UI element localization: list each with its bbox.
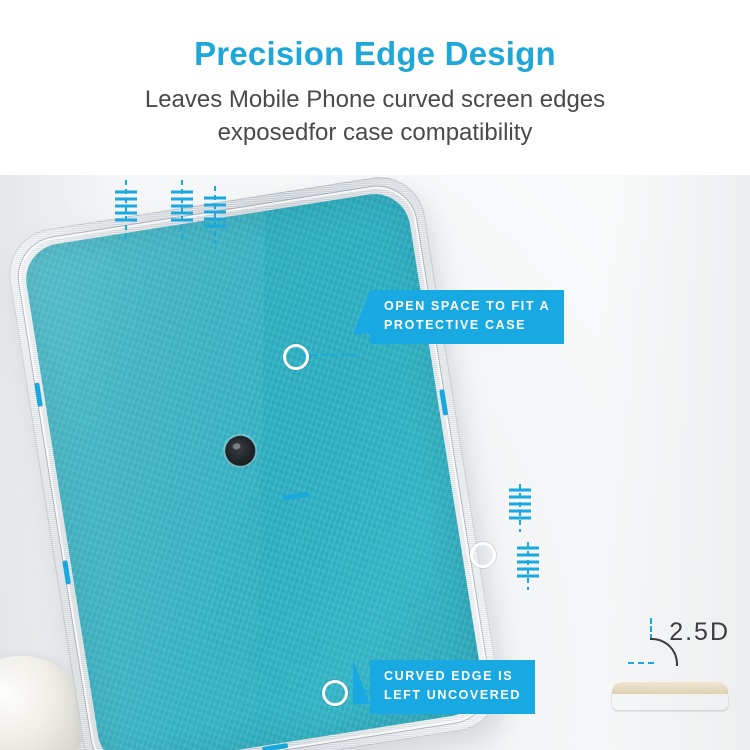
product-photo: OPEN SPACE TO FIT A PROTECTIVE CASE CURV… xyxy=(0,172,750,750)
badge-2-5d: 2.5D xyxy=(606,612,732,720)
subtitle-line-1: Leaves Mobile Phone curved screen edges xyxy=(145,86,605,113)
header: Precision Edge Design Leaves Mobile Phon… xyxy=(0,0,750,175)
callout-open-space-line-2: PROTECTIVE CASE xyxy=(384,318,526,332)
badge-2-5d-label: 2.5D xyxy=(669,618,730,647)
callout-curved-edge-line-1: CURVED EDGE IS xyxy=(384,669,513,683)
callout-connector xyxy=(302,354,356,356)
page-subtitle: Leaves Mobile Phone curved screen edges … xyxy=(65,72,685,149)
badge-guide-vertical xyxy=(650,618,652,640)
callout-curved-edge-line-2: LEFT UNCOVERED xyxy=(384,688,521,702)
subtitle-line-2: exposedfor case compatibility xyxy=(218,119,533,146)
callout-curved-edge: CURVED EDGE IS LEFT UNCOVERED xyxy=(370,660,535,714)
callout-open-space: OPEN SPACE TO FIT A PROTECTIVE CASE xyxy=(370,290,564,344)
glass-edge-profile xyxy=(612,684,728,710)
marker-zipper-icon xyxy=(112,178,242,251)
marker-zipper-icon xyxy=(498,482,568,597)
product-infographic: Precision Edge Design Leaves Mobile Phon… xyxy=(0,0,750,750)
callout-ring-marker xyxy=(470,542,496,568)
page-title: Precision Edge Design xyxy=(0,0,750,72)
callout-ring-marker xyxy=(322,680,348,706)
callout-open-space-line-1: OPEN SPACE TO FIT A xyxy=(384,299,550,313)
callout-ring-marker xyxy=(283,344,309,370)
